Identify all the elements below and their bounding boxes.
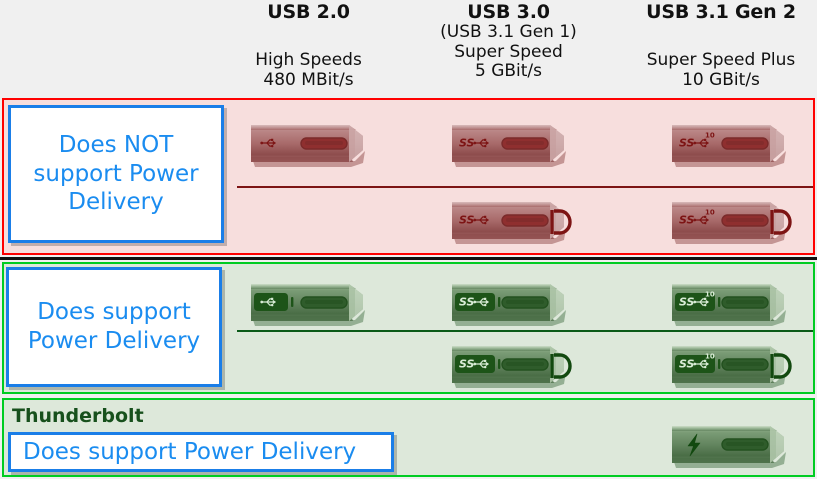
svg-text:SS: SS — [679, 296, 695, 309]
column-headers: USB 2.0 High Speeds 480 MBit/s USB 3.0 (… — [0, 0, 817, 98]
svg-text:10: 10 — [705, 209, 715, 217]
callout-no-power-delivery: Does NOT support Power Delivery — [8, 105, 224, 243]
connector-usb31g2-nopd-pd: SS10 — [664, 194, 799, 250]
thunderbolt-label: Thunderbolt — [12, 405, 144, 427]
superspeed-usb-trident-icon: SS — [444, 117, 579, 173]
header-column-usb20: USB 2.0 High Speeds 480 MBit/s — [216, 2, 401, 90]
header-title: USB 2.0 — [216, 2, 401, 23]
connector-usb3-pd-pdmk: SS — [444, 338, 579, 394]
svg-text:10: 10 — [705, 353, 715, 361]
thunderbolt-bolt-icon — [664, 418, 799, 474]
connector-usb2-pd — [243, 276, 378, 332]
header-column-usb31gen2: USB 3.1 Gen 2 Super Speed Plus 10 GBit/s — [625, 2, 817, 90]
superspeed-usb-trident-icon: SS — [444, 194, 579, 250]
superspeed-usb-trident-icon: SS — [444, 276, 579, 332]
usb-trident-icon — [243, 117, 378, 173]
header-speed-name: Super Speed — [416, 43, 601, 62]
svg-text:10: 10 — [705, 291, 715, 299]
svg-text:SS: SS — [459, 296, 475, 309]
svg-text:SS: SS — [459, 137, 475, 150]
svg-text:SS: SS — [459, 214, 475, 227]
connector-usb3-nopd: SS — [444, 117, 579, 173]
usb-connector-comparison-chart: USB 2.0 High Speeds 480 MBit/s USB 3.0 (… — [0, 0, 817, 479]
header-speed-name: Super Speed Plus — [625, 51, 817, 70]
connector-usb31g2-pd: SS10 — [664, 276, 799, 332]
superspeed-usb-trident-10gbps-icon: SS10 — [664, 338, 799, 394]
callout-label: Does support Power Delivery — [11, 438, 362, 467]
connector-usb2-nopd — [243, 117, 378, 173]
header-title: USB 3.0 — [416, 2, 601, 23]
connector-usb3-pd: SS — [444, 276, 579, 332]
superspeed-usb-trident-10gbps-icon: SS10 — [664, 276, 799, 332]
connector-usb3-nopd-pdmk: SS — [444, 194, 579, 250]
header-title: USB 3.1 Gen 2 — [625, 2, 817, 23]
usb-trident-icon — [243, 276, 378, 332]
connector-thunderbolt-c — [664, 418, 799, 474]
callout-power-delivery: Does support Power Delivery — [6, 267, 222, 387]
svg-text:SS: SS — [679, 214, 695, 227]
svg-text:SS: SS — [459, 358, 475, 371]
svg-text:SS: SS — [679, 358, 695, 371]
connector-usb31g2-pd-pdmk: SS10 — [664, 338, 799, 394]
row-divider — [237, 186, 813, 188]
header-speed-name: High Speeds — [216, 51, 401, 70]
header-speed-value: 5 GBit/s — [416, 62, 601, 81]
superspeed-usb-trident-10gbps-icon: SS10 — [664, 117, 799, 173]
superspeed-usb-trident-icon: SS — [444, 338, 579, 394]
connector-usb31g2-nopd: SS10 — [664, 117, 799, 173]
header-subtitle: (USB 3.1 Gen 1) — [416, 23, 601, 42]
header-column-usb30: USB 3.0 (USB 3.1 Gen 1) Super Speed 5 GB… — [416, 2, 601, 81]
svg-text:10: 10 — [705, 132, 715, 140]
svg-text:SS: SS — [679, 137, 695, 150]
callout-label: Does support Power Delivery — [9, 298, 219, 356]
header-speed-value: 10 GBit/s — [625, 71, 817, 90]
callout-label: Does NOT support Power Delivery — [11, 131, 221, 217]
superspeed-usb-trident-10gbps-icon: SS10 — [664, 194, 799, 250]
section-divider — [0, 257, 817, 260]
header-speed-value: 480 MBit/s — [216, 71, 401, 90]
callout-thunderbolt-power-delivery: Does support Power Delivery — [8, 432, 394, 472]
